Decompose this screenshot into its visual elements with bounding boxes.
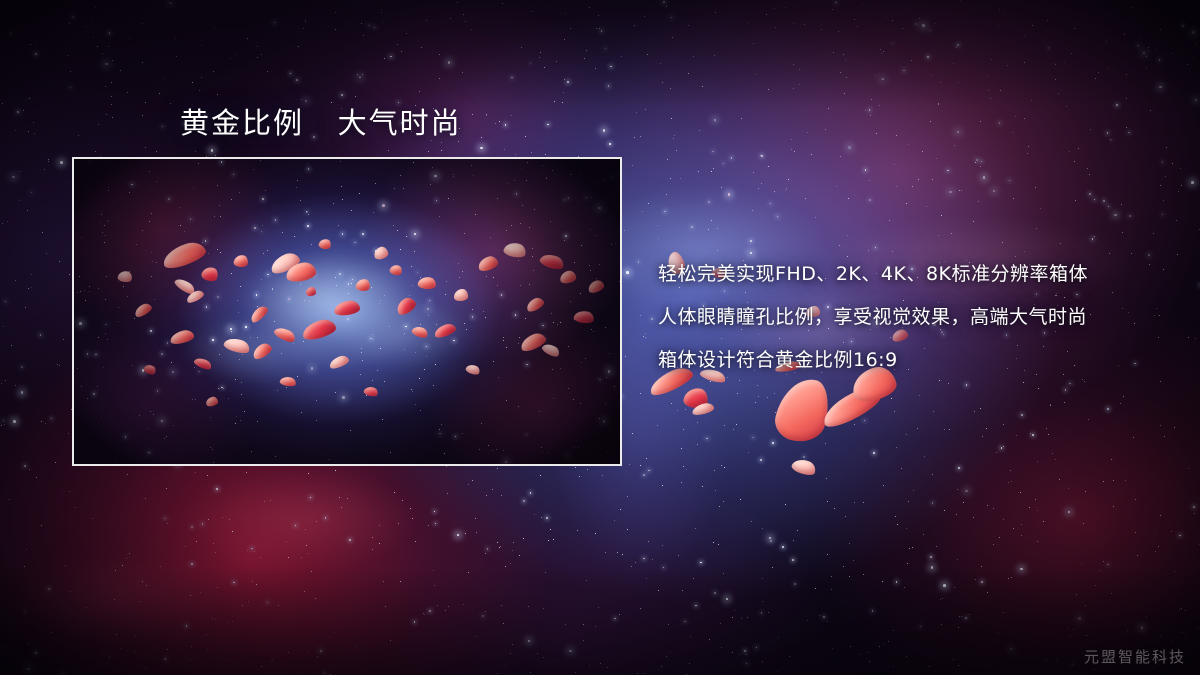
- feature-line-2: 人体眼睛瞳孔比例，享受视觉效果，高端大气时尚: [658, 296, 1088, 339]
- feature-line-3: 箱体设计符合黄金比例16:9: [658, 339, 1088, 382]
- led-display-panel[interactable]: [72, 157, 622, 466]
- feature-line-1: 轻松完美实现FHD、2K、4K、8K标准分辨率箱体: [658, 253, 1088, 296]
- panel-vignette: [74, 159, 620, 464]
- page-title: 黄金比例 大气时尚: [180, 100, 462, 142]
- rose-petal: [790, 456, 817, 477]
- feature-description: 轻松完美实现FHD、2K、4K、8K标准分辨率箱体 人体眼睛瞳孔比例，享受视觉效…: [658, 253, 1088, 382]
- rose-petal: [771, 373, 835, 447]
- presentation-slide: 黄金比例 大气时尚 轻松完美实现FHD、2K、4K、8K标准分辨率箱体 人体眼睛…: [0, 0, 1200, 675]
- company-watermark: 元盟智能科技: [1084, 646, 1186, 667]
